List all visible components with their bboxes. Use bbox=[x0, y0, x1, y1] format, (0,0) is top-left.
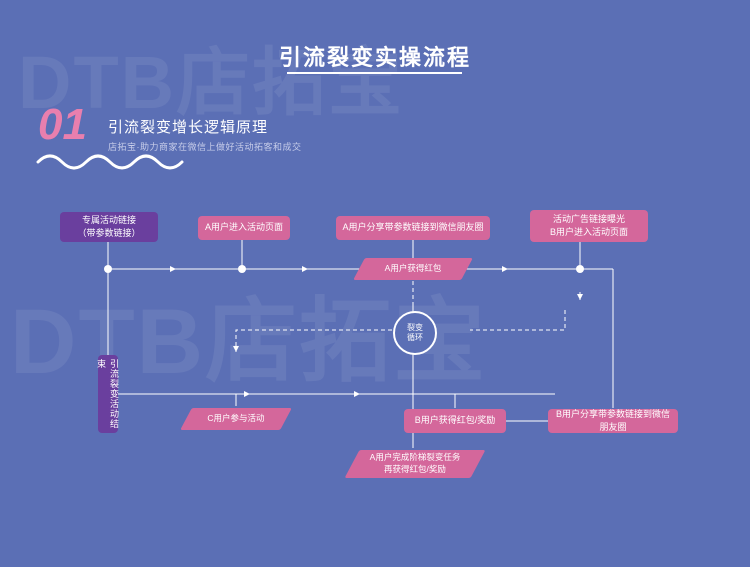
diagram-canvas: DTB店拓宝 DTB店拓宝 引流裂变实操流程 01 引流裂变增长逻辑原理 店拓宝… bbox=[0, 0, 750, 567]
node-label: B用户获得红包/奖励 bbox=[415, 414, 496, 427]
node-user-a-enter[interactable]: A用户进入活动页面 bbox=[198, 216, 290, 240]
node-user-a-tier-reward[interactable]: A用户完成阶梯裂变任务 再获得红包/奖励 bbox=[352, 450, 478, 478]
node-label: 引流裂变活动结束 bbox=[95, 359, 121, 429]
node-user-a-share[interactable]: A用户分享带参数链接到微信朋友圈 bbox=[336, 216, 490, 240]
node-exclusive-link[interactable]: 专属活动链接 （带参数链接） bbox=[60, 212, 158, 242]
node-fission-loop[interactable]: 裂变 循环 bbox=[393, 311, 437, 355]
node-label: 专属活动链接 （带参数链接） bbox=[77, 214, 140, 240]
node-user-c-join[interactable]: C用户参与活动 bbox=[186, 408, 286, 430]
node-ad-exposure[interactable]: 活动广告链接曝光 B用户进入活动页面 bbox=[530, 210, 648, 242]
node-label: A用户完成阶梯裂变任务 再获得红包/奖励 bbox=[352, 450, 478, 478]
node-label: 活动广告链接曝光 B用户进入活动页面 bbox=[550, 213, 628, 239]
flow-connectors bbox=[0, 0, 750, 567]
node-label: 裂变 循环 bbox=[407, 323, 423, 342]
node-user-b-reward[interactable]: B用户获得红包/奖励 bbox=[404, 409, 506, 433]
node-user-b-share[interactable]: B用户分享带参数链接到微信朋友圈 bbox=[548, 409, 678, 433]
node-user-a-redpacket[interactable]: A用户获得红包 bbox=[359, 258, 467, 280]
node-label: B用户分享带参数链接到微信朋友圈 bbox=[552, 408, 674, 434]
node-label: C用户参与活动 bbox=[186, 408, 286, 430]
node-activity-end[interactable]: 引流裂变活动结束 bbox=[98, 355, 118, 433]
node-label: A用户进入活动页面 bbox=[205, 221, 283, 234]
node-label: A用户获得红包 bbox=[359, 258, 467, 280]
node-label: A用户分享带参数链接到微信朋友圈 bbox=[342, 221, 483, 234]
